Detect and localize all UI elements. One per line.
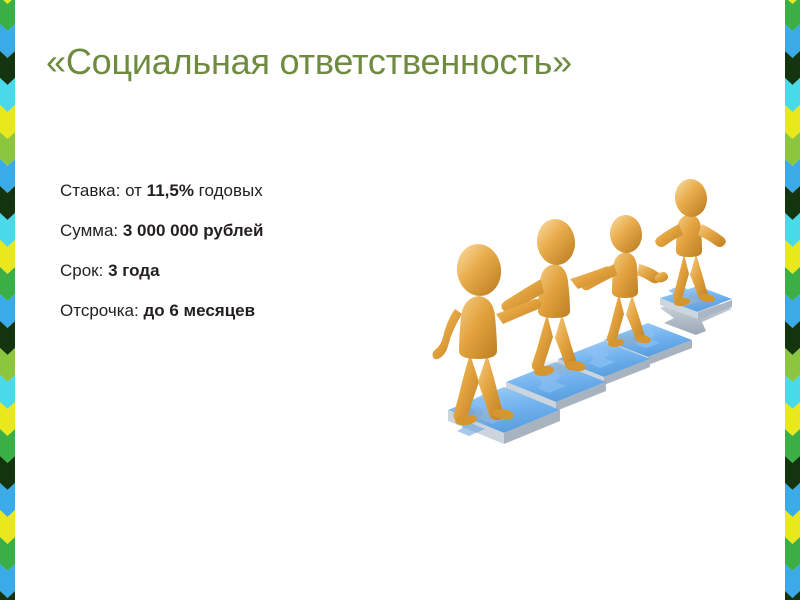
slide-root: «Социальная ответственность» Ставка: от …: [0, 0, 800, 600]
detail-label-grace: Отсрочка:: [60, 301, 143, 320]
detail-label-term: Срок:: [60, 261, 108, 280]
chevron-segment: [0, 591, 15, 600]
detail-label-rate: Ставка: от: [60, 181, 147, 200]
detail-line-amount: Сумма: 3 000 000 рублей: [60, 222, 400, 240]
detail-suffix-rate: годовых: [194, 181, 263, 200]
loan-details-list: Ставка: от 11,5% годовых Сумма: 3 000 00…: [60, 182, 400, 341]
teamwork-puzzle-illustration: [408, 172, 756, 462]
left-edge-stripe: [0, 0, 15, 600]
detail-value-amount: 3 000 000 рублей: [123, 221, 264, 240]
detail-value-rate: 11,5%: [147, 181, 194, 200]
detail-value-term: 3 года: [108, 261, 159, 280]
detail-line-rate: Ставка: от 11,5% годовых: [60, 182, 400, 200]
right-edge-stripe: [785, 0, 800, 600]
detail-value-grace: до 6 месяцев: [143, 301, 255, 320]
chevron-segment: [785, 591, 800, 600]
page-title: «Социальная ответственность»: [46, 38, 606, 86]
detail-line-grace: Отсрочка: до 6 месяцев: [60, 302, 400, 320]
detail-line-term: Срок: 3 года: [60, 262, 400, 280]
detail-label-amount: Сумма:: [60, 221, 123, 240]
